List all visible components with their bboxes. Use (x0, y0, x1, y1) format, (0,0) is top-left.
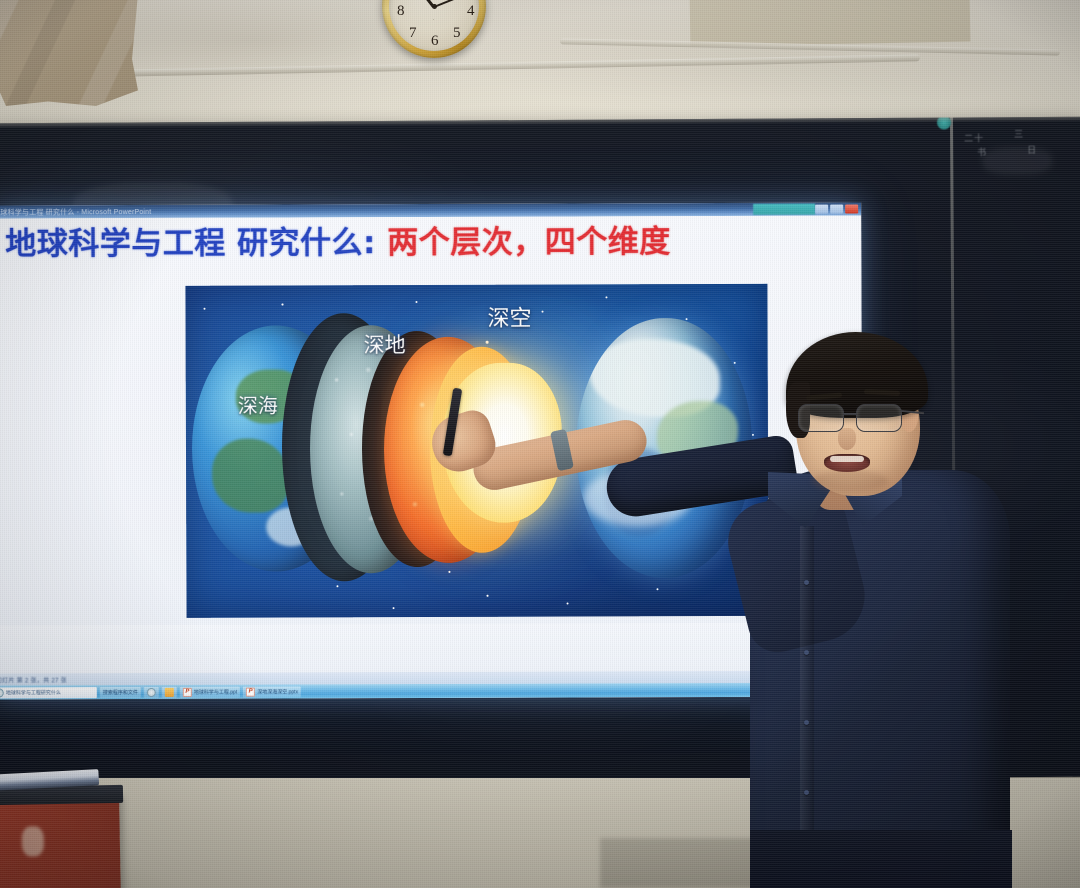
slide-title-blue: 地球科学与工程 研究什么: (5, 225, 376, 262)
chalk-mark: 三 (1014, 127, 1024, 140)
paper-patch (0, 0, 138, 106)
lecture-photo-scene: 4 5 6 7 8 · 二十 三 书 日 地球科学与工程 研究什么 - Micr… (0, 0, 1080, 888)
presenter-teeth (830, 456, 864, 462)
windows-start-icon[interactable] (0, 688, 4, 697)
taskbar-item-label: 地球科学与工程.ppt (194, 688, 237, 695)
lectern-desk (0, 799, 121, 888)
maximize-button[interactable] (830, 205, 843, 214)
wall-patch (690, 0, 971, 46)
chalk-mark: 日 (1027, 143, 1037, 156)
taskbar-item-powerpoint-1[interactable]: P 地球科学与工程.ppt (180, 686, 240, 697)
taskbar-item-search[interactable]: 搜索程序和文件 (100, 686, 141, 697)
presenter-nose (838, 428, 856, 450)
clock-face: 4 5 6 7 8 · (389, 0, 479, 51)
clock-minute-hand (434, 0, 466, 8)
shirt-button (804, 720, 809, 725)
window-controls[interactable] (815, 204, 861, 213)
label-deep-sea: 深海 (238, 390, 278, 419)
taskbar-item-browser[interactable] (144, 686, 159, 697)
window-title: 地球科学与工程 研究什么 - Microsoft PowerPoint (0, 206, 151, 217)
close-button[interactable] (845, 204, 858, 213)
chalk-mark: 书 (977, 145, 987, 158)
powerpoint-icon[interactable]: P (183, 687, 192, 696)
ribbon-tab-highlight[interactable] (753, 204, 815, 215)
clock-number-4: 4 (467, 3, 475, 20)
label-deep-space: 深空 (487, 301, 531, 333)
taskbar-item-folder[interactable] (162, 686, 177, 697)
slide-title-red: 两个层次，四个维度 (387, 224, 671, 261)
presenter (600, 330, 1080, 888)
titlebar-spacer (151, 209, 753, 211)
clock-number-8: 8 (397, 3, 405, 20)
glasses-icon (796, 404, 920, 434)
shirt-button (804, 580, 809, 585)
slide-title: 地球科学与工程 研究什么: 两个层次，四个维度 (5, 226, 825, 261)
shirt-button (804, 650, 809, 655)
taskbar-start-item[interactable]: 地球科学与工程研究什么 (0, 687, 97, 698)
clock-number-6: 6 (431, 33, 439, 50)
clock-number-7: 7 (409, 25, 417, 42)
clock-center-pin (432, 4, 437, 9)
slide-counter: 幻灯片 第 2 张，共 27 张 (0, 675, 67, 684)
taskbar-item-label: 深地深海深空.pptx (257, 688, 298, 695)
presenter-chin-shadow (812, 470, 888, 492)
folder-icon[interactable] (165, 687, 174, 696)
lectern-scuff (22, 826, 45, 856)
clock-number-5: 5 (453, 25, 461, 42)
taskbar-start-label: 地球科学与工程研究什么 (6, 689, 61, 696)
chalk-mark: 二十 (964, 131, 984, 144)
label-deep-earth: 深地 (364, 329, 406, 359)
minimize-button[interactable] (815, 205, 828, 214)
taskbar-item-label: 搜索程序和文件 (103, 689, 138, 696)
taskbar-item-powerpoint-2[interactable]: P 深地深海深空.pptx (243, 686, 301, 697)
shirt-button (804, 790, 809, 795)
browser-icon[interactable] (147, 687, 156, 696)
powerpoint-icon[interactable]: P (246, 687, 255, 696)
shirt-placket (800, 526, 814, 876)
presenter-waist (750, 830, 1012, 888)
clock-brand: · (433, 17, 435, 23)
chalk-smudge (982, 147, 1052, 175)
